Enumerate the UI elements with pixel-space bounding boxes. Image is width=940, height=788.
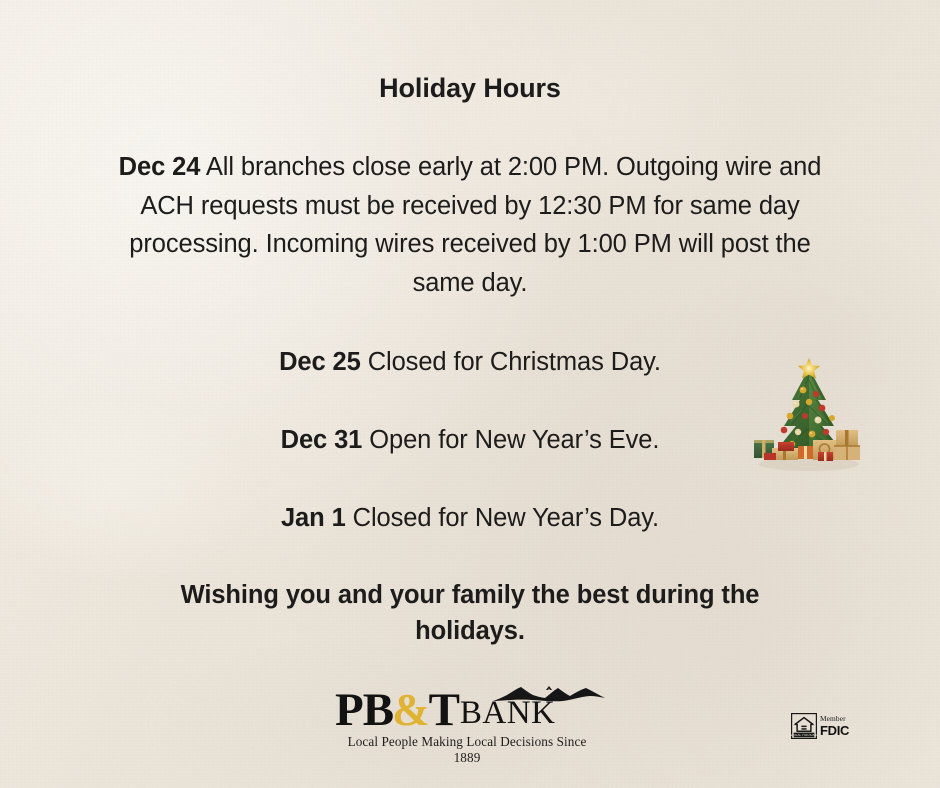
date-label-dec31: Dec 31 bbox=[281, 426, 363, 454]
closing-message: Wishing you and your family the best dur… bbox=[130, 577, 810, 649]
fdic-member-label: Member bbox=[820, 715, 849, 722]
notice-body-dec31: Open for New Year’s Eve. bbox=[362, 426, 659, 454]
notice-body-dec25: Closed for Christmas Day. bbox=[361, 348, 661, 376]
notice-body-jan1: Closed for New Year’s Day. bbox=[346, 504, 659, 532]
logo-text-pb: PB bbox=[335, 688, 393, 732]
date-label-jan1: Jan 1 bbox=[281, 504, 346, 532]
fdic-name-label: FDIC bbox=[820, 724, 849, 737]
logo-tagline: Local People Making Local Decisions Sinc… bbox=[335, 734, 599, 766]
date-label-dec24: Dec 24 bbox=[119, 153, 201, 181]
holiday-hours-poster: Holiday Hours Dec 24 All branches close … bbox=[0, 0, 940, 788]
logo-ampersand: & bbox=[392, 688, 430, 732]
fdic-text-group: Member FDIC bbox=[820, 715, 849, 736]
date-label-dec25: Dec 25 bbox=[279, 348, 361, 376]
member-fdic-block: EQUAL HOUSING Member FDIC bbox=[791, 711, 853, 741]
page-title: Holiday Hours bbox=[0, 72, 940, 104]
notice-line-jan1: Jan 1 Closed for New Year’s Day. bbox=[0, 501, 940, 535]
equal-housing-lender-icon: EQUAL HOUSING bbox=[791, 713, 817, 739]
logo-wordmark: PB&TBANK bbox=[335, 688, 607, 732]
logo-text-t: T bbox=[429, 688, 459, 732]
pbt-bank-logo: PB&TBANK Local People Making Local Decis… bbox=[335, 688, 607, 750]
svg-text:EQUAL HOUSING: EQUAL HOUSING bbox=[791, 733, 817, 737]
christmas-tree-icon bbox=[748, 356, 870, 474]
mountain-range-icon bbox=[491, 684, 607, 706]
notice-paragraph-dec24: Dec 24 All branches close early at 2:00 … bbox=[118, 148, 822, 302]
notice-body-dec24: All branches close early at 2:00 PM. Out… bbox=[129, 153, 821, 297]
